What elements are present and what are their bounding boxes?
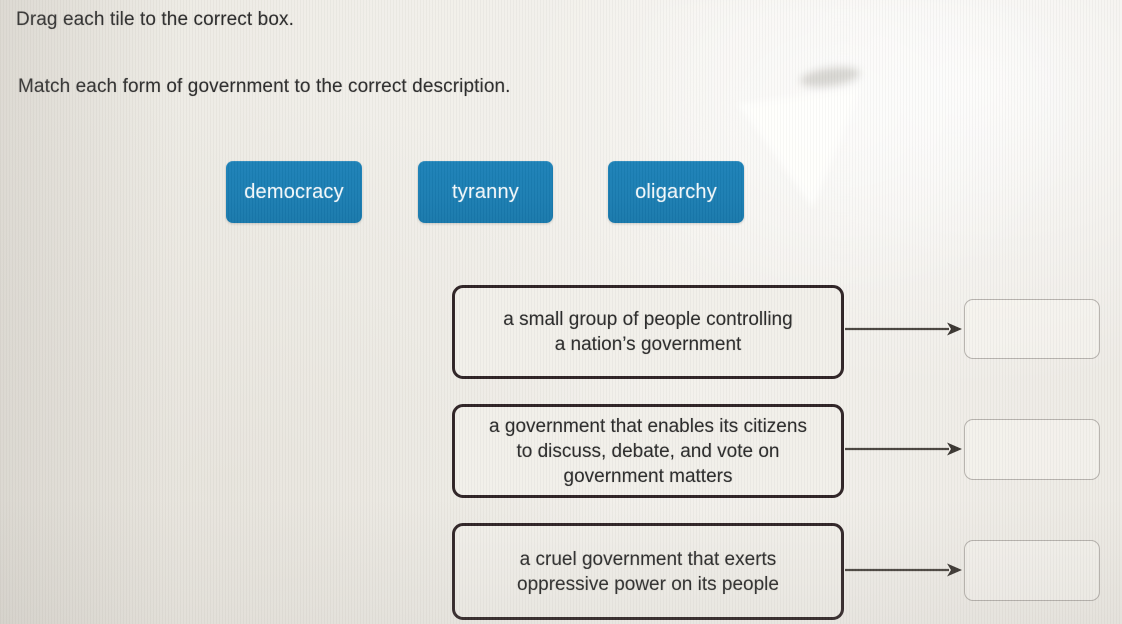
description-text: a government that enables its citizens t… bbox=[489, 414, 807, 489]
tile-tyranny[interactable]: tyranny bbox=[418, 161, 553, 223]
tile-democracy[interactable]: democracy bbox=[226, 161, 362, 223]
screen-glare-triangle bbox=[738, 89, 875, 215]
arrow-right-icon bbox=[845, 321, 963, 337]
description-text: a cruel government that exerts oppressiv… bbox=[517, 547, 779, 597]
drop-target-2[interactable] bbox=[964, 419, 1100, 480]
description-line: government matters bbox=[564, 466, 733, 487]
drop-target-1[interactable] bbox=[964, 299, 1100, 359]
description-line: a cruel government that exerts bbox=[520, 549, 777, 570]
arrow-right-icon bbox=[845, 562, 963, 578]
tile-oligarchy[interactable]: oligarchy bbox=[608, 161, 744, 223]
description-line: oppressive power on its people bbox=[517, 574, 779, 595]
worksheet-screen: Drag each tile to the correct box. Match… bbox=[0, 0, 1122, 624]
description-text: a small group of people controlling a na… bbox=[503, 307, 792, 357]
description-line: a government that enables its citizens bbox=[489, 416, 807, 437]
description-box-democracy: a government that enables its citizens t… bbox=[452, 404, 844, 498]
arrow-right-icon bbox=[845, 441, 963, 457]
task-instruction: Match each form of government to the cor… bbox=[18, 75, 511, 99]
description-line: to discuss, debate, and vote on bbox=[516, 441, 779, 462]
description-box-tyranny: a cruel government that exerts oppressiv… bbox=[452, 523, 844, 620]
description-line: a nation’s government bbox=[555, 334, 742, 355]
drop-target-3[interactable] bbox=[964, 540, 1100, 601]
description-line: a small group of people controlling bbox=[503, 309, 792, 330]
screen-glare-wash bbox=[640, 0, 1122, 320]
screen-smudge bbox=[799, 64, 861, 90]
drag-instruction: Drag each tile to the correct box. bbox=[16, 8, 294, 32]
description-box-oligarchy: a small group of people controlling a na… bbox=[452, 285, 844, 379]
